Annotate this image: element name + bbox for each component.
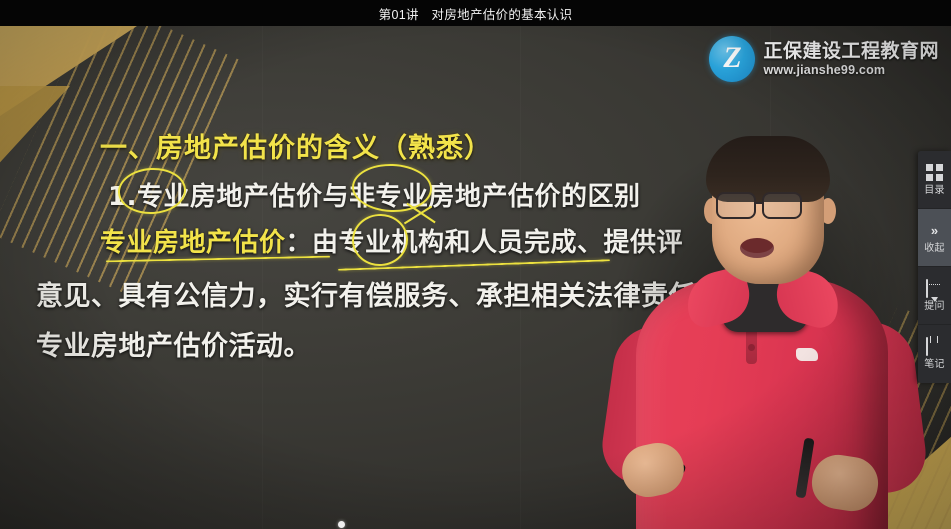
logo-z-icon: Z	[709, 36, 755, 82]
site-logo: Z 正保建设工程教育网 www.jianshe99.com	[709, 36, 939, 82]
logo-url: www.jianshe99.com	[763, 64, 939, 77]
sidebar-item-ask[interactable]: 提问	[918, 267, 951, 325]
slide-body-line: 专业房地产估价活动。	[36, 324, 311, 363]
sidebar-item-notes[interactable]: 笔记	[918, 325, 951, 383]
sidebar-item-label: 目录	[924, 186, 944, 196]
sidebar-item-label: 收起	[924, 244, 944, 254]
grid-icon	[926, 164, 944, 182]
note-icon	[926, 338, 944, 356]
logo-wordmark: 正保建设工程教育网 www.jianshe99.com	[763, 42, 939, 76]
slide-term-highlight: 专业房地产估价	[100, 228, 286, 258]
sidebar-item-label: 提问	[924, 302, 944, 312]
lecture-title-text: 第01讲 对房地产估价的基本认识	[379, 4, 573, 23]
presenter-glasses-bridge	[756, 202, 764, 204]
player-tool-sidebar: 目录 » 收起 提问 笔记	[918, 151, 951, 383]
presenter-glasses-right-lens	[762, 192, 802, 219]
chevrons-right-icon: »	[926, 222, 944, 240]
video-player-screen: 第01讲 对房地产估价的基本认识 一、房地产估价的含义（熟悉） 1.专业房地产估…	[0, 0, 951, 529]
slide-body-line: 1.专业房地产估价与非专业房地产估价的区别	[108, 176, 640, 213]
cursor-dot	[338, 521, 345, 528]
presenter-glasses-left-lens	[716, 192, 756, 219]
logo-brand-name: 正保建设工程教育网	[763, 42, 939, 62]
shirt-button	[748, 344, 755, 351]
presenter-mouth	[740, 238, 774, 258]
sidebar-item-contents[interactable]: 目录	[918, 151, 951, 209]
presenter-figure	[600, 26, 951, 529]
shirt-logo-patch	[796, 348, 818, 361]
sidebar-item-collapse[interactable]: » 收起	[918, 209, 951, 267]
lecture-title-bar: 第01讲 对房地产估价的基本认识	[0, 0, 951, 26]
slide-body-line: 意见、具有公信力，实行有偿服务、承担相关法律责任	[36, 274, 696, 313]
slide-body-line: 专业房地产估价：由专业机构和人员完成、提供评	[100, 222, 683, 259]
slide-heading-line: 一、房地产估价的含义（熟悉）	[100, 126, 492, 165]
video-stage[interactable]: 一、房地产估价的含义（熟悉） 1.专业房地产估价与非专业房地产估价的区别 专业房…	[0, 26, 951, 529]
sidebar-item-label: 笔记	[924, 360, 944, 370]
logo-mark-letter: Z	[723, 43, 741, 73]
chat-bubble-icon	[926, 280, 944, 298]
